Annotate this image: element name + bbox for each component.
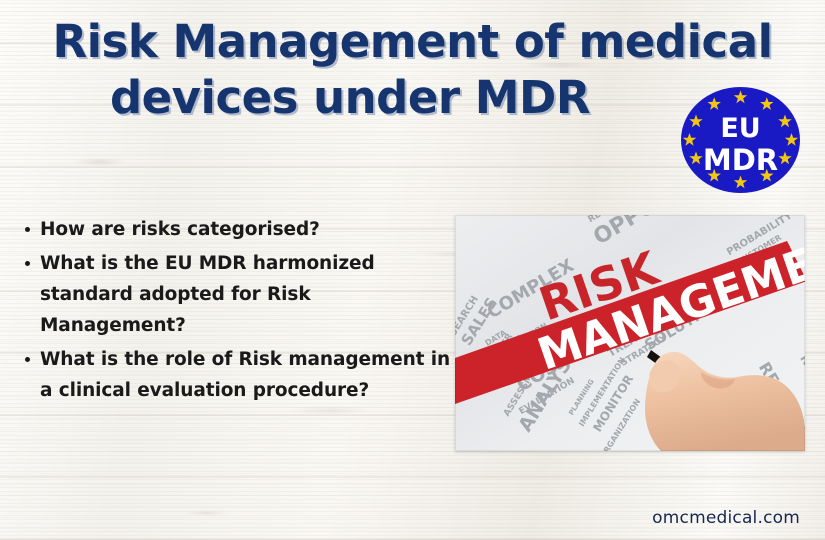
poster-canvas: Risk Management of medical devices under… [0,0,825,540]
list-item: What is the role of Risk management in a… [40,344,460,406]
eu-mdr-badge: EU MDR [681,87,800,193]
website-footer: omcmedical.com [652,508,800,528]
list-item: How are risks categorised? [40,214,460,245]
question-list: How are risks categorised? What is the E… [18,214,460,409]
badge-text-eu: EU [720,113,760,144]
badge-text-mdr: MDR [703,143,778,177]
risk-management-word-cloud-image: RESEARCH SALES CUSTOMER PLAN ASSESSMENT … [455,215,805,451]
list-item: What is the EU MDR harmonized standard a… [40,248,460,341]
title-line-1: Risk Management of medical [0,14,825,70]
